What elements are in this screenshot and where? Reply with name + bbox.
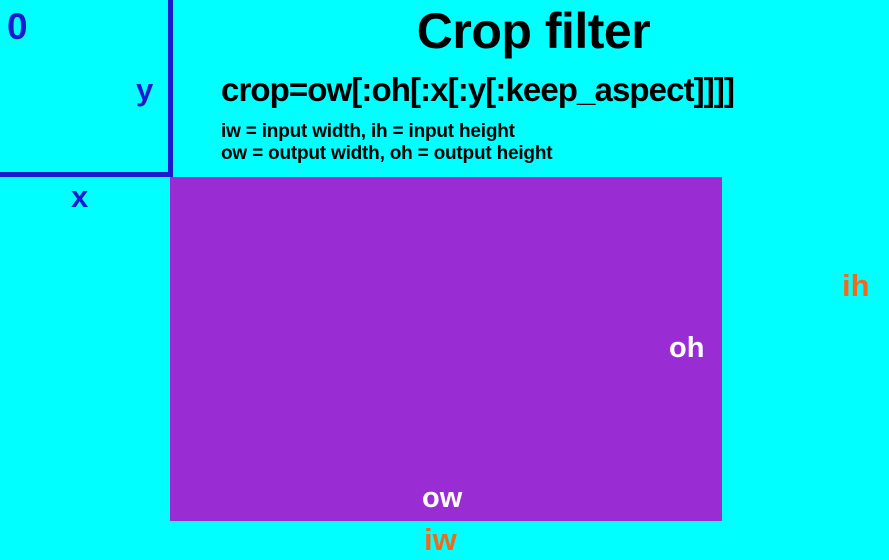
- y-offset-label: y: [136, 74, 153, 105]
- x-offset-label: x: [71, 181, 88, 212]
- legend-line-input: iw = input width, ih = input height: [221, 121, 515, 143]
- filter-syntax-text: crop=ow[:oh[:x[:y[:keep_aspect]]]]: [221, 72, 734, 108]
- y-offset-guide-line: [168, 0, 173, 177]
- input-height-label: ih: [842, 270, 870, 301]
- x-offset-guide-line: [0, 172, 173, 177]
- input-width-label: iw: [424, 524, 457, 555]
- legend-line-output: ow = output width, oh = output height: [221, 143, 552, 165]
- origin-label: 0: [7, 8, 28, 45]
- output-width-label: ow: [422, 484, 462, 513]
- output-height-label: oh: [669, 334, 704, 363]
- output-crop-rectangle: [170, 177, 722, 521]
- crop-filter-diagram: 0 y x oh ow ih iw Crop filter crop=ow[:o…: [0, 0, 889, 560]
- diagram-title: Crop filter: [178, 4, 889, 59]
